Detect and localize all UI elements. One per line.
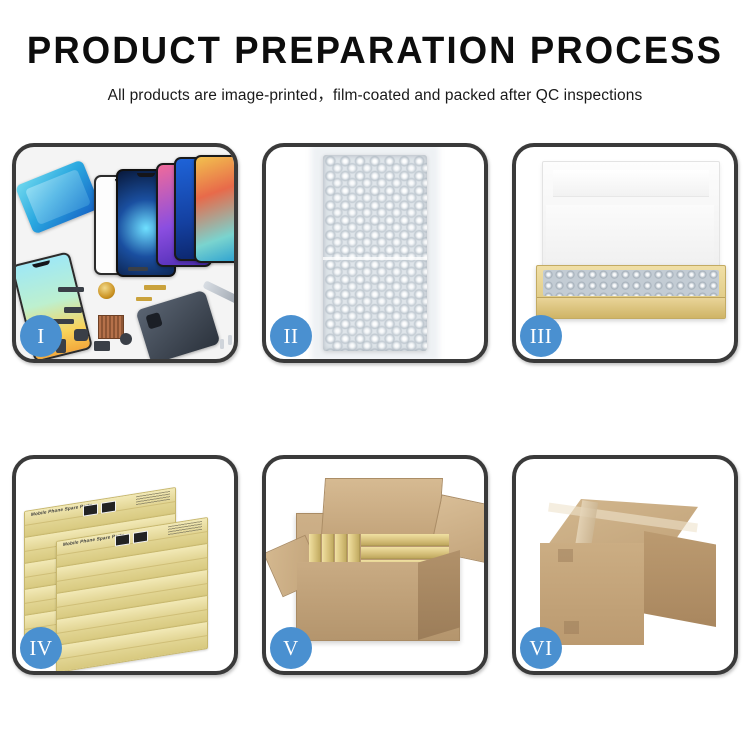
open-master-carton-icon (296, 513, 460, 641)
box-screen-print-icon (133, 530, 148, 543)
process-step-grid: I II (12, 143, 738, 675)
step-panel-1: I (12, 143, 238, 363)
step-panel-3: III (512, 143, 738, 363)
page-subtitle: All products are image-printed，film-coat… (0, 83, 750, 105)
step-panel-4: Mobile Phone Spare Parts Mobile Phone Sp… (12, 455, 238, 675)
screw-part-icon (120, 333, 132, 345)
step-panel-5: V (262, 455, 488, 675)
page-title: PRODUCT PREPARATION PROCESS (15, 32, 735, 72)
flex-cable-part-icon (144, 285, 166, 290)
step-panel-2: II (262, 143, 488, 363)
carton-flap-tab (564, 621, 579, 634)
bubble-wrap-pouch-icon (323, 155, 427, 351)
bubble-pattern (543, 270, 719, 296)
box-screen-print-icon (83, 503, 98, 516)
sealed-carton-icon (540, 499, 716, 645)
small-part-icon (128, 267, 148, 271)
step-badge-2: II (270, 315, 312, 357)
screw-part-icon (228, 335, 232, 345)
copper-coil-part-icon (98, 282, 115, 299)
box-screen-print-icon (101, 500, 116, 513)
small-part-icon (64, 307, 82, 313)
step-badge-4: IV (20, 627, 62, 669)
packed-retail-box (361, 534, 449, 546)
carton-flap-tab (558, 549, 573, 562)
small-part-icon (74, 329, 88, 341)
carton-side-face (418, 550, 460, 640)
kraft-tray-icon (536, 265, 726, 319)
step-badge-1: I (20, 315, 62, 357)
product-preparation-infographic: PRODUCT PREPARATION PROCESS All products… (0, 0, 750, 750)
phone-screen-blue-icon (16, 159, 101, 234)
step-badge-6: VI (520, 627, 562, 669)
step-panel-6: VI (512, 455, 738, 675)
carton-front-face (540, 543, 644, 645)
packed-retail-box (361, 547, 449, 559)
small-part-icon (94, 341, 110, 351)
screw-part-icon (220, 339, 224, 349)
step-badge-3: III (520, 315, 562, 357)
header: PRODUCT PREPARATION PROCESS All products… (0, 0, 750, 105)
small-part-icon (58, 287, 84, 292)
carton-back-flap (321, 478, 443, 536)
tray-contents (543, 270, 719, 296)
foam-insert-icon (546, 205, 714, 267)
box-screen-print-icon (115, 533, 130, 546)
step-badge-5: V (270, 627, 312, 669)
carton-side-face (644, 531, 716, 627)
flex-cable-part-icon (136, 297, 152, 301)
bubble-wrap-seam (323, 257, 427, 260)
lid-fold (553, 170, 709, 197)
phone-screen-colorful-icon (194, 155, 234, 263)
tray-front-panel (537, 297, 725, 318)
